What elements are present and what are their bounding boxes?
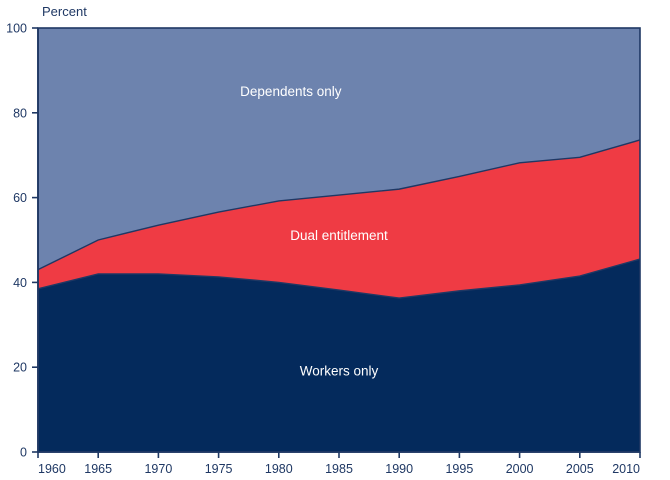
y-tick-label: 60 (13, 191, 27, 205)
x-tick-label: 1975 (205, 462, 233, 476)
x-tick-label: 1970 (144, 462, 172, 476)
y-tick-label: 80 (13, 106, 27, 120)
x-tick-label: 2005 (566, 462, 594, 476)
series-label-workers-only: Workers only (300, 364, 379, 379)
stacked-area-chart: 020406080100 196019651970197519801985199… (0, 0, 670, 480)
y-axis-ticks: 020406080100 (6, 22, 38, 460)
series-label-dependents-only: Dependents only (240, 84, 342, 99)
y-axis-title: Percent (42, 4, 87, 19)
y-tick-label: 40 (13, 276, 27, 290)
x-axis-ticks: 1960196519701975198019851990199520002005… (38, 452, 640, 476)
x-tick-label: 1985 (325, 462, 353, 476)
chart-canvas: 020406080100 196019651970197519801985199… (0, 0, 670, 480)
x-tick-label: 1965 (84, 462, 112, 476)
x-tick-label: 1960 (38, 462, 66, 476)
x-tick-label: 1995 (445, 462, 473, 476)
x-tick-label: 2000 (506, 462, 534, 476)
y-tick-label: 20 (13, 361, 27, 375)
x-tick-label: 2010 (612, 462, 640, 476)
y-tick-label: 100 (6, 22, 27, 36)
series-label-dual-entitlement: Dual entitlement (290, 228, 388, 243)
x-tick-label: 1980 (265, 462, 293, 476)
x-tick-label: 1990 (385, 462, 413, 476)
y-tick-label: 0 (20, 446, 27, 460)
